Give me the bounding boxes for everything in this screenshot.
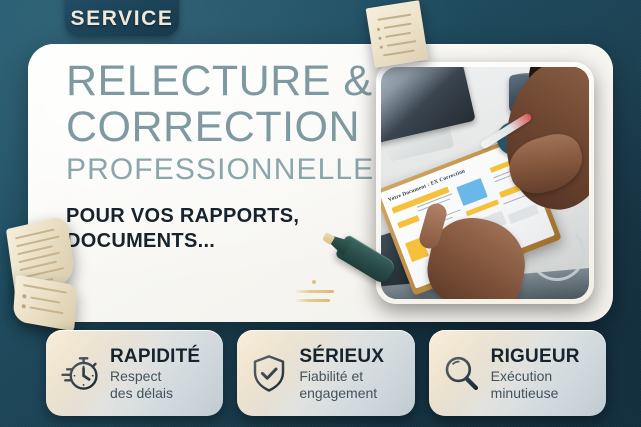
cable bbox=[529, 225, 585, 281]
marker-stroke-2 bbox=[296, 299, 330, 302]
service-tab-label: SERVICE bbox=[70, 7, 173, 31]
badge-text: RAPIDITÉ Respect des délais bbox=[110, 346, 200, 401]
stopwatch-icon bbox=[57, 351, 101, 395]
badge-rapidite[interactable]: RAPIDITÉ Respect des délais bbox=[46, 330, 223, 416]
badge-title: SÉRIEUX bbox=[299, 346, 384, 367]
badge-serieux[interactable]: SÉRIEUX Fiabilité et engagement bbox=[237, 330, 414, 416]
badge-rigueur[interactable]: RIGUEUR Exécution minutieuse bbox=[429, 330, 606, 416]
badge-desc-line-1: Respect bbox=[110, 368, 200, 384]
shield-check-icon bbox=[248, 352, 290, 394]
badge-title: RAPIDITÉ bbox=[110, 346, 200, 367]
badge-desc-line-1: Exécution bbox=[491, 368, 580, 384]
feature-badges: RAPIDITÉ Respect des délais SÉRIEUX Fiab… bbox=[46, 330, 606, 416]
badge-desc-line-2: des délais bbox=[110, 385, 200, 401]
badge-title: RIGUEUR bbox=[491, 346, 580, 367]
service-tab: SERVICE bbox=[65, 0, 179, 36]
paper-sheet-front bbox=[13, 275, 78, 332]
magnifier-icon bbox=[440, 352, 482, 394]
badge-desc-line-2: engagement bbox=[299, 385, 384, 401]
poster-canvas: SERVICE RELECTURE & CORRECTION PROFESSIO… bbox=[0, 0, 641, 427]
headline-line-2: CORRECTION bbox=[66, 104, 374, 150]
headline-line-1: RELECTURE & bbox=[66, 58, 374, 104]
photo-image: Votre Document : EX Correction bbox=[381, 67, 589, 299]
document-note-top bbox=[366, 0, 429, 68]
photo-frame: Votre Document : EX Correction bbox=[376, 62, 594, 304]
badge-text: SÉRIEUX Fiabilité et engagement bbox=[299, 346, 384, 401]
headline-block: RELECTURE & CORRECTION PROFESSIONNELLE P… bbox=[66, 58, 374, 254]
badge-text: RIGUEUR Exécution minutieuse bbox=[491, 346, 580, 401]
badge-desc-line-1: Fiabilité et bbox=[299, 368, 384, 384]
headline-line-3: PROFESSIONNELLE bbox=[66, 150, 374, 190]
marker-stroke-1 bbox=[296, 290, 334, 293]
marker-dot bbox=[312, 280, 316, 284]
badge-desc-line-2: minutieuse bbox=[491, 385, 580, 401]
